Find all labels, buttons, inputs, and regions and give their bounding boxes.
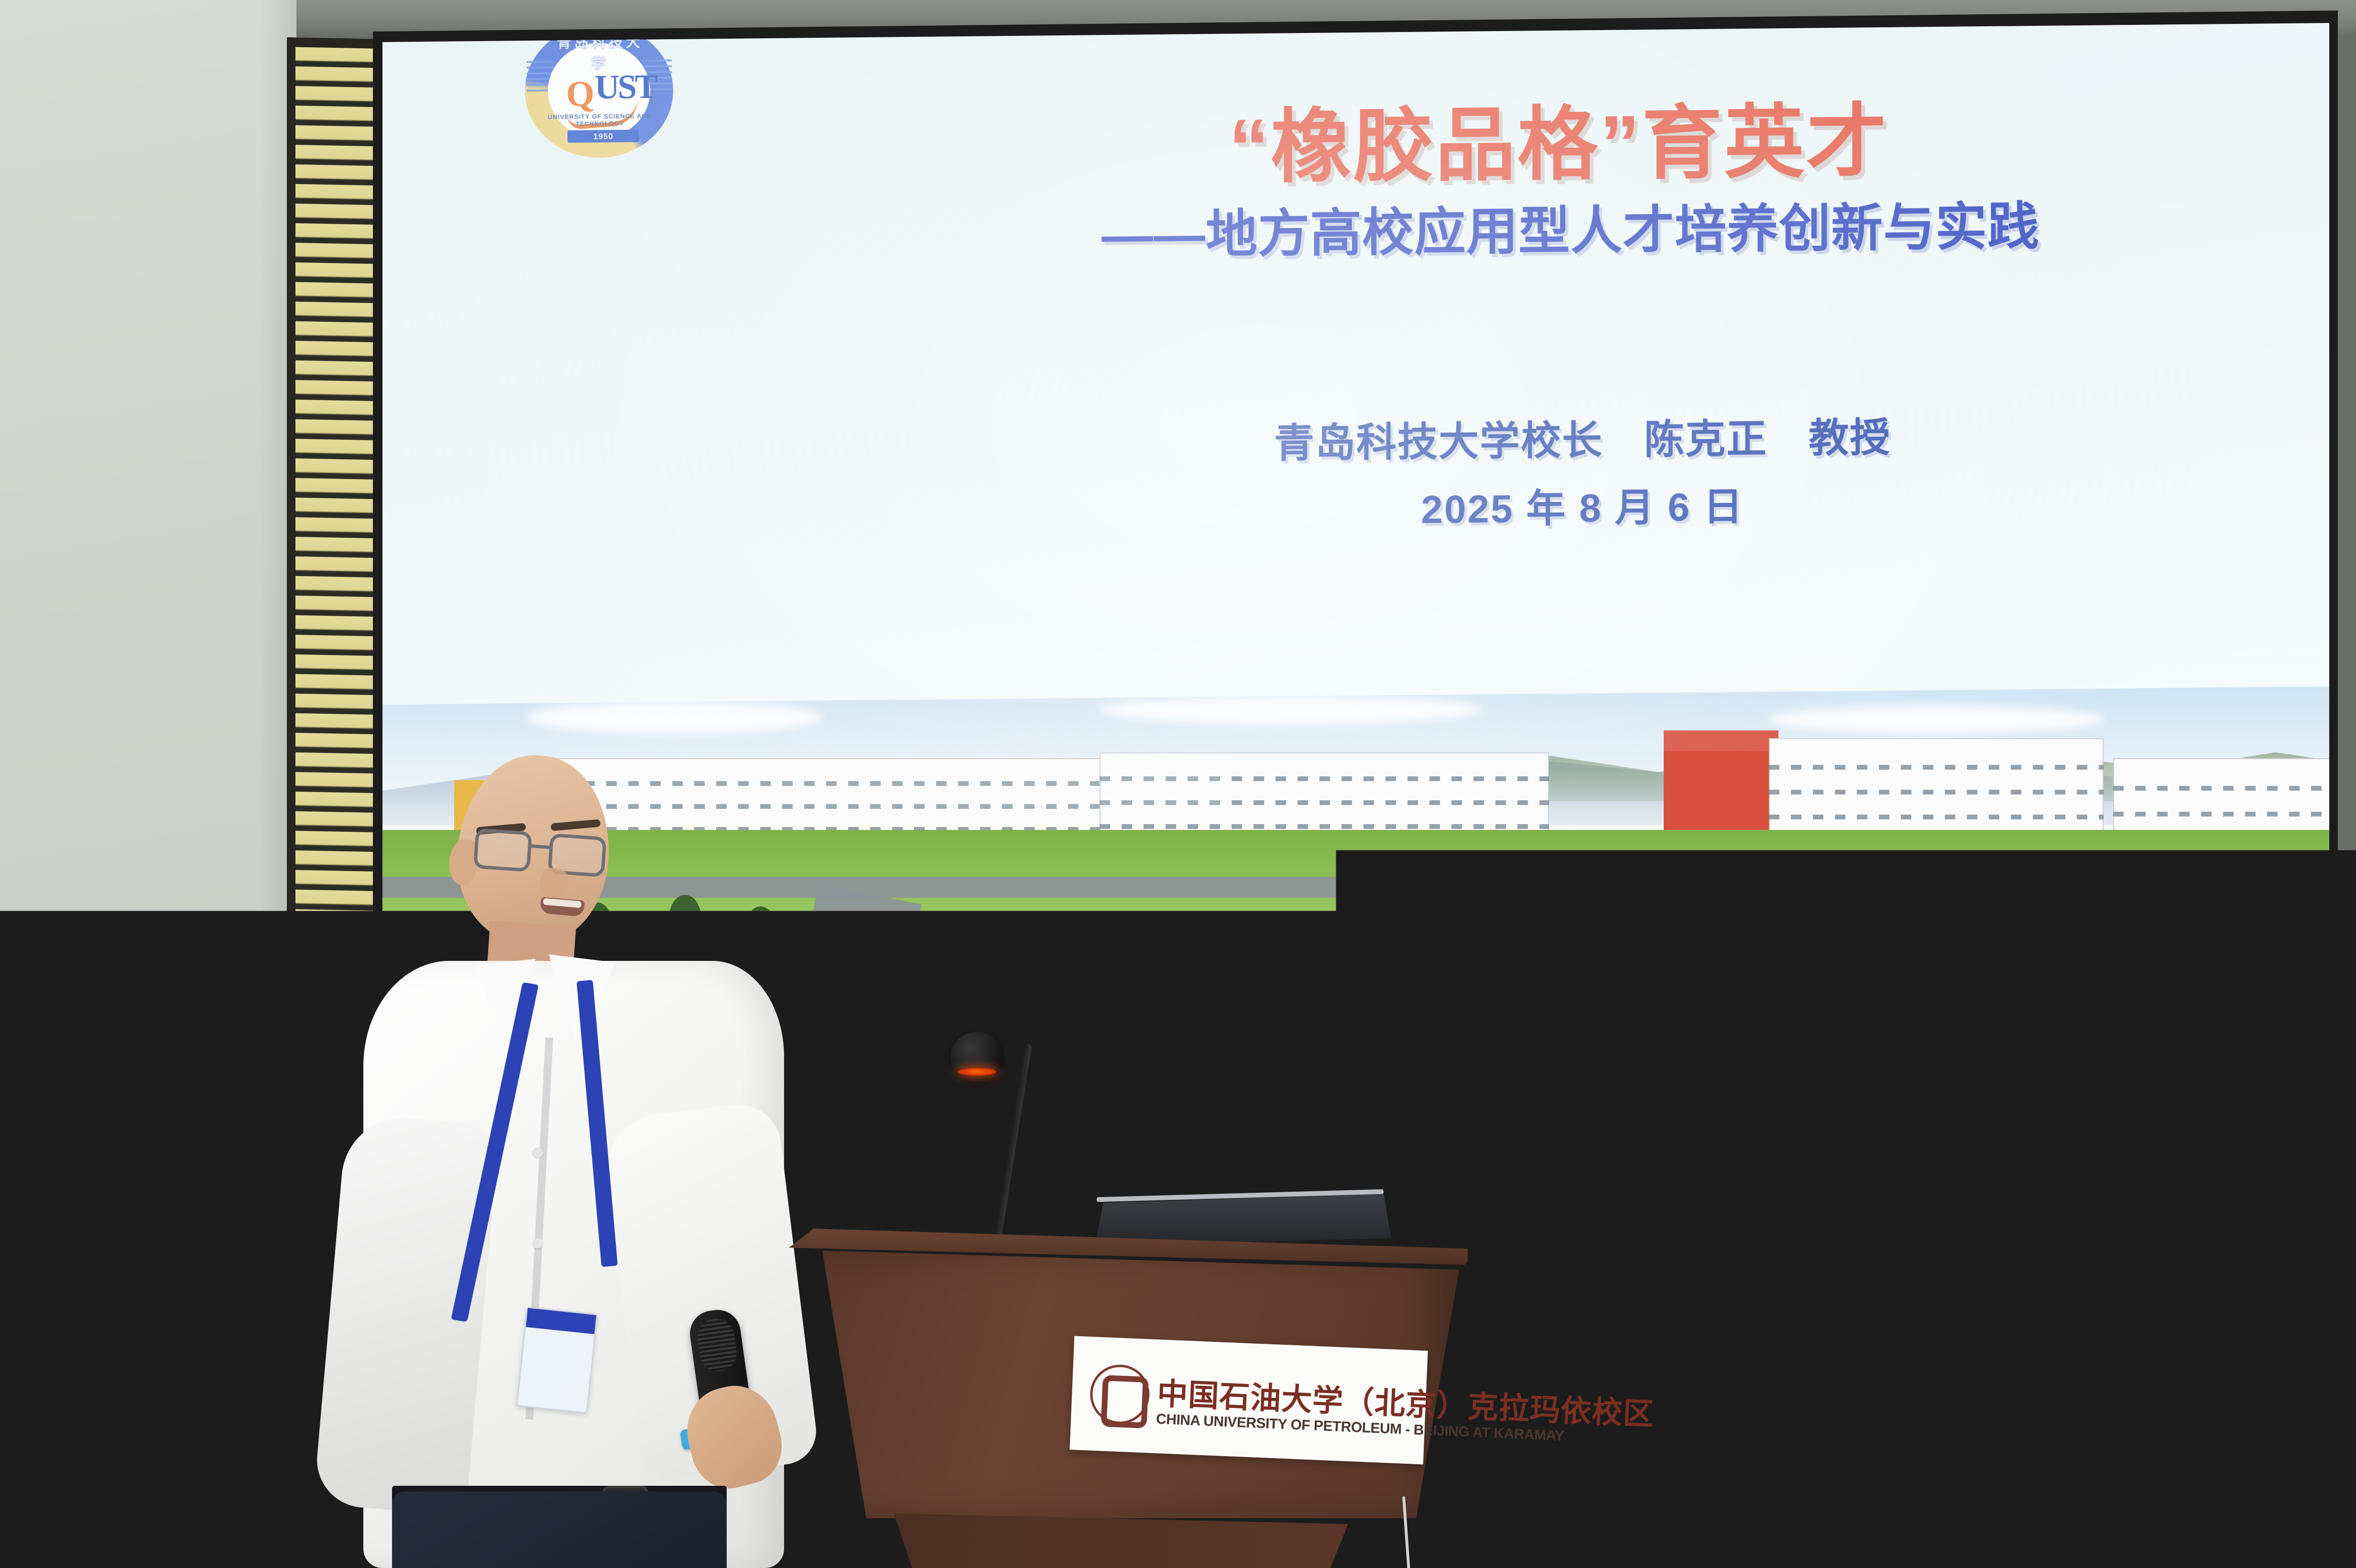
fence — [1740, 1072, 1884, 1096]
window-row — [1769, 790, 2104, 795]
window-row — [1100, 776, 1549, 781]
tree — [1673, 893, 1705, 937]
slide-title: “橡胶品格”育英才 — [899, 73, 2218, 202]
left-wall — [0, 0, 296, 1568]
tree — [1472, 890, 1504, 934]
slide-subtitle: ——地方高校应用型人才培养创新与实践 — [841, 182, 2300, 271]
shrub — [1841, 960, 1898, 991]
window-row — [2113, 812, 2329, 817]
fence — [1109, 1072, 1253, 1096]
building-red-tower — [1664, 730, 1778, 840]
laptop-icon — [1095, 1194, 1391, 1246]
slat-divider — [2225, 1111, 2237, 1475]
trousers — [392, 1492, 727, 1568]
lens-left — [473, 828, 533, 872]
microphone-led-indicator — [958, 1068, 996, 1076]
id-badge — [516, 1307, 598, 1414]
photo-scene: 青岛科技大学 Q UST 1950 UNIVERSITY OF SCIENCE … — [0, 0, 2356, 1568]
qust-logo-icon: 青岛科技大学 Q UST 1950 UNIVERSITY OF SCIENCE … — [510, 23, 688, 163]
cloud — [526, 701, 822, 734]
microphone-grill — [695, 1317, 739, 1374]
logo-founded-year: 1950 — [567, 131, 639, 142]
window-row — [1100, 824, 1549, 829]
tree — [2008, 903, 2037, 944]
window-row — [1769, 815, 2104, 819]
campus-name-text: 青岛科技大学 — [1253, 1066, 1740, 1094]
window-row — [1769, 765, 2104, 770]
shirt-button — [533, 1238, 543, 1249]
campus-name-wall: 青岛科技大学 — [1253, 1064, 1740, 1099]
logo-english-name: UNIVERSITY OF SCIENCE AND TECHNOLOGY — [529, 112, 670, 128]
cupb-seal-icon — [1089, 1363, 1151, 1425]
slide-presenter-line: 青岛科技大学校长 陈克正 教授 — [889, 402, 2276, 473]
shrub — [2008, 975, 2071, 1009]
glasses-bridge — [531, 844, 550, 849]
tree — [1893, 892, 1925, 936]
tree — [1783, 903, 1812, 944]
window-row — [2113, 786, 2329, 791]
lectern-name-plate: 中国石油大学（北京）克拉玛依校区 CHINA UNIVERSITY OF PET… — [1069, 1336, 1428, 1465]
shirt-button — [533, 1147, 543, 1158]
flower-bed — [1238, 954, 1386, 1045]
lectern-base — [880, 1514, 1363, 1568]
tree — [1568, 899, 1598, 941]
cloud — [1769, 706, 2104, 733]
cloud — [1100, 695, 1482, 725]
shrub — [2161, 959, 2217, 991]
lectern: 中国石油大学（北京）克拉玛依校区 CHINA UNIVERSITY OF PET… — [789, 1229, 1492, 1568]
acoustic-slat-panel-right — [2096, 1100, 2356, 1468]
slide-date: 2025 年 8 月 6 日 — [889, 469, 2276, 540]
window-row — [1100, 800, 1549, 805]
